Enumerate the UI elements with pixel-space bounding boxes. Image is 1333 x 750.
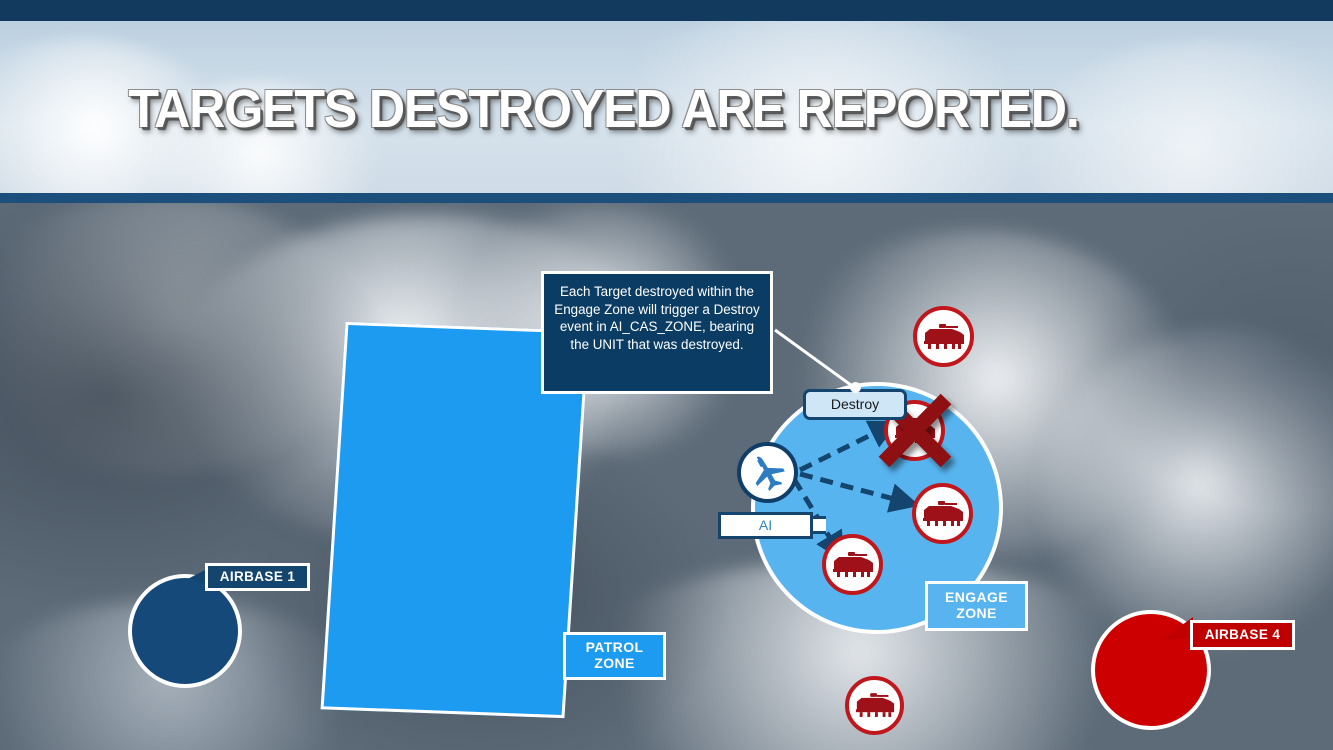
airbase-1-circle <box>128 574 242 688</box>
destroy-connector-dot <box>851 383 860 392</box>
armored-vehicle-icon <box>912 483 973 544</box>
top-accent-strip <box>0 0 1333 21</box>
label-engage-zone-line1: ENGAGE <box>945 590 1008 606</box>
header-divider <box>0 193 1333 203</box>
label-engage-zone-line2: ZONE <box>956 606 997 622</box>
armored-vehicle-icon <box>822 534 883 595</box>
page-title: TARGETS DESTROYED ARE REPORTED. <box>0 78 1240 140</box>
label-destroy-event[interactable]: Destroy <box>803 389 907 420</box>
label-ai[interactable]: AI <box>718 512 813 539</box>
info-callout-box: Each Target destroyed within the Engage … <box>541 271 773 394</box>
label-airbase-1[interactable]: AIRBASE 1 <box>205 563 310 591</box>
armored-vehicle-icon <box>913 306 974 367</box>
label-engage-zone[interactable]: ENGAGE ZONE <box>925 581 1028 631</box>
fighter-jet-icon <box>737 442 798 503</box>
label-airbase-4[interactable]: AIRBASE 4 <box>1190 620 1295 650</box>
slide-canvas: TARGETS DESTROYED ARE REPORTED. <box>0 0 1333 750</box>
label-patrol-zone[interactable]: PATROL ZONE <box>563 632 666 680</box>
armored-vehicle-icon <box>845 676 904 735</box>
label-patrol-zone-line2: ZONE <box>594 656 635 672</box>
label-patrol-zone-line1: PATROL <box>586 640 644 656</box>
